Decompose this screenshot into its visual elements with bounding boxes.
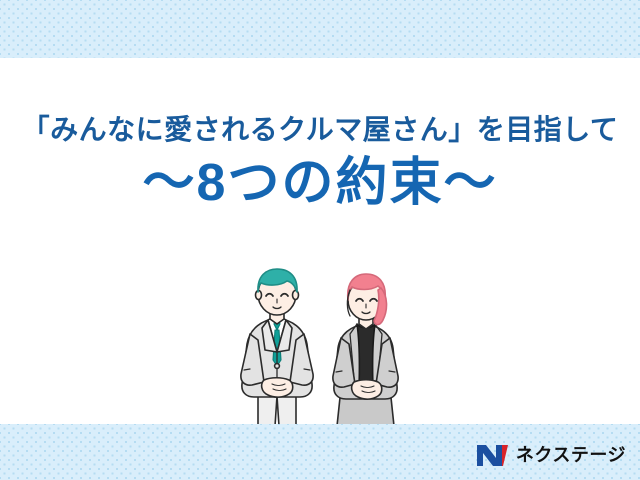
- female-inner-top: [357, 324, 375, 388]
- headline-block: 「みんなに愛されるクルマ屋さん」を目指して 〜8つの約束〜: [0, 112, 640, 214]
- brand-logo: ネクステージ: [476, 440, 626, 470]
- promotional-banner: 「みんなに愛されるクルマ屋さん」を目指して 〜8つの約束〜: [0, 0, 640, 480]
- female-staff-figure: [333, 274, 398, 426]
- male-staff-figure: [241, 269, 313, 426]
- staff-bowing-illustration: [228, 266, 418, 434]
- male-clasped-hands: [262, 378, 293, 397]
- brand-wordmark: ネクステージ: [516, 446, 626, 464]
- staff-illustration-svg: [228, 266, 418, 434]
- n-mark-blue-stem: [496, 445, 502, 466]
- male-jacket-button: [275, 364, 280, 369]
- top-polka-dot-band: [0, 0, 640, 58]
- headline-title: 〜8つの約束〜: [0, 153, 640, 214]
- nextage-n-mark-icon: [476, 443, 509, 468]
- female-clasped-hands: [352, 380, 382, 399]
- headline-subtitle: 「みんなに愛されるクルマ屋さん」を目指して: [0, 112, 640, 147]
